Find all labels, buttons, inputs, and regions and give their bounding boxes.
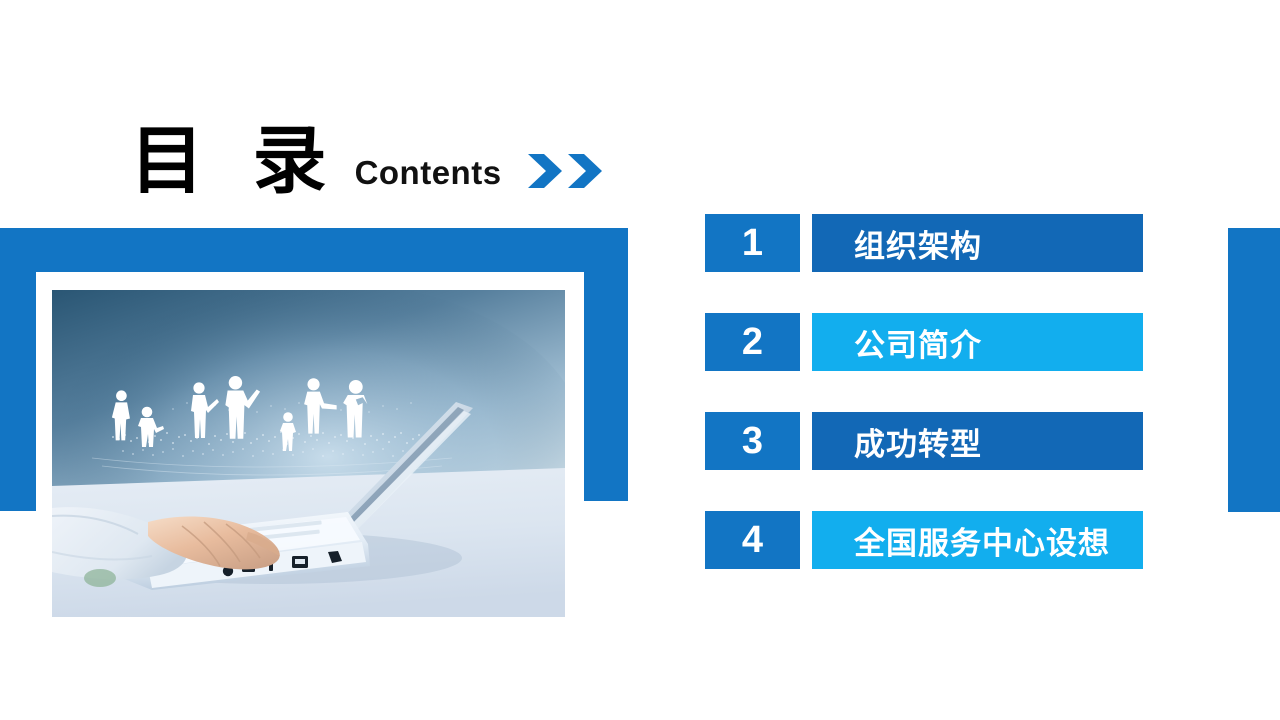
photo-artwork [52, 290, 565, 617]
contents-item-number: 4 [705, 511, 800, 569]
chevron-double-right-icon [568, 154, 604, 188]
right-accent-bar [1228, 228, 1280, 512]
contents-menu: 1 组织架构 2 公司简介 3 成功转型 4 全国服务中心设想 [705, 214, 1143, 569]
contents-item-label[interactable]: 公司简介 [812, 313, 1143, 371]
contents-item-number: 3 [705, 412, 800, 470]
slide-photo [52, 290, 565, 617]
slide-title-block: 目 录 Contents [130, 108, 604, 198]
contents-item-3[interactable]: 3 成功转型 [705, 412, 1143, 470]
contents-item-1[interactable]: 1 组织架构 [705, 214, 1143, 272]
page-title-chinese: 目 录 [130, 124, 341, 198]
contents-item-label[interactable]: 组织架构 [812, 214, 1143, 272]
contents-item-4[interactable]: 4 全国服务中心设想 [705, 511, 1143, 569]
photo-frame-top-bar [0, 228, 628, 272]
chevron-double-right-icon [528, 154, 564, 188]
contents-item-label[interactable]: 全国服务中心设想 [812, 511, 1143, 569]
contents-item-number: 2 [705, 313, 800, 371]
contents-item-label[interactable]: 成功转型 [812, 412, 1143, 470]
contents-item-2[interactable]: 2 公司简介 [705, 313, 1143, 371]
photo-frame-right-bar [584, 228, 628, 501]
contents-item-number: 1 [705, 214, 800, 272]
page-title-english: Contents [355, 154, 502, 192]
chevron-group [528, 154, 604, 188]
photo-frame-left-bar [0, 228, 36, 511]
